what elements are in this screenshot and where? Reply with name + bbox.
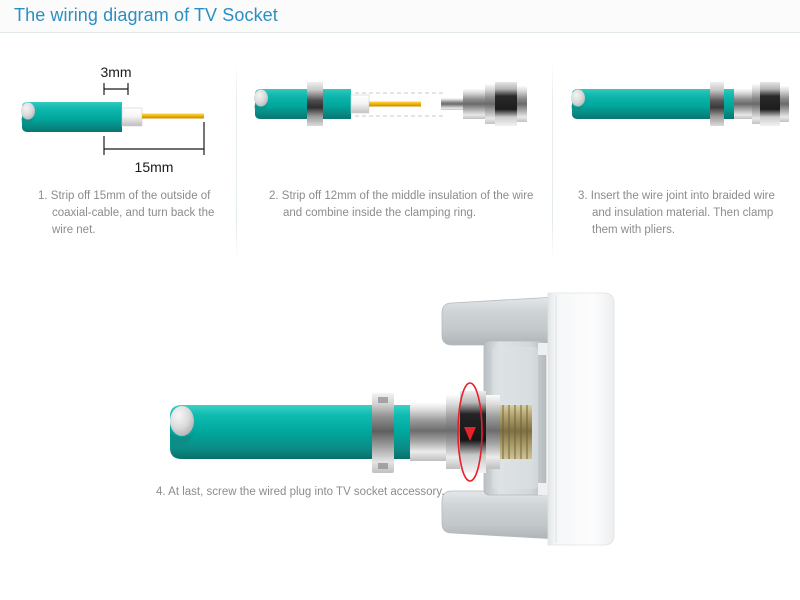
step-3-caption: 3. Insert the wire joint into braided wi… (578, 188, 793, 239)
cable-jacket (572, 89, 710, 119)
dimension-15mm-label: 15mm (135, 159, 174, 175)
step-3-illustration (560, 56, 795, 186)
step-4-caption: 4. At last, screw the wired plug into TV… (156, 484, 444, 500)
step-1-illustration: 3mm (10, 56, 235, 186)
socket-bracket-top (442, 297, 566, 345)
cable-jacket-right (323, 89, 351, 119)
connector-barrel (734, 89, 752, 119)
cable-jacket-band (394, 405, 410, 459)
center-conductor (369, 102, 421, 107)
socket-faceplate (548, 293, 614, 545)
cable-cut-end (254, 90, 268, 107)
cable-jacket-tip (724, 89, 734, 119)
final-step-panel: 4. At last, screw the wired plug into TV… (0, 285, 800, 585)
f-connector (441, 82, 527, 126)
connector-pin-sleeve (441, 98, 463, 110)
steps-row: 3mm (0, 56, 800, 261)
connector-flange (752, 84, 760, 124)
connector-thread-end (780, 86, 789, 122)
dimension-3mm-line (104, 83, 128, 95)
connector-shoulder (486, 395, 500, 469)
f-connector (734, 82, 789, 126)
step-4-illustration (0, 285, 800, 560)
dimension-3mm-label: 3mm (100, 64, 131, 80)
step-2-caption: 2. Strip off 12mm of the middle insulati… (269, 188, 537, 222)
panel-divider (552, 60, 553, 260)
page-title: The wiring diagram of TV Socket (14, 5, 278, 26)
inner-insulation (351, 95, 369, 113)
clamping-ring (710, 82, 724, 126)
connector-hex-nut (495, 82, 517, 126)
step-2-illustration (245, 56, 545, 186)
cable-cut-end (21, 103, 35, 120)
clamping-ring (372, 393, 394, 473)
step-panel-1: 3mm (10, 56, 235, 261)
inner-insulation (122, 108, 142, 126)
connector-brass-thread (500, 405, 532, 459)
step-panel-3: 3. Insert the wire joint into braided wi… (560, 56, 795, 261)
center-conductor (142, 114, 204, 119)
coaxial-cable-assembly (170, 391, 532, 473)
connector-barrel (410, 403, 446, 461)
connector-flange (485, 84, 495, 124)
panel-divider (236, 60, 237, 260)
connector-hex-nut (760, 82, 780, 126)
cable-jacket (22, 102, 122, 132)
cable-cut-end (571, 90, 585, 107)
clamping-ring (307, 82, 323, 126)
step-1-caption: 1. Strip off 15mm of the outside of coax… (38, 188, 229, 239)
step-panel-2: 2. Strip off 12mm of the middle insulati… (245, 56, 545, 261)
page-header: The wiring diagram of TV Socket (0, 0, 800, 33)
cable-jacket (170, 405, 380, 459)
socket-bracket-bottom (442, 491, 566, 539)
connector-thread-end (517, 86, 527, 122)
connector-barrel (463, 89, 487, 119)
cable-cut-end (170, 406, 194, 436)
